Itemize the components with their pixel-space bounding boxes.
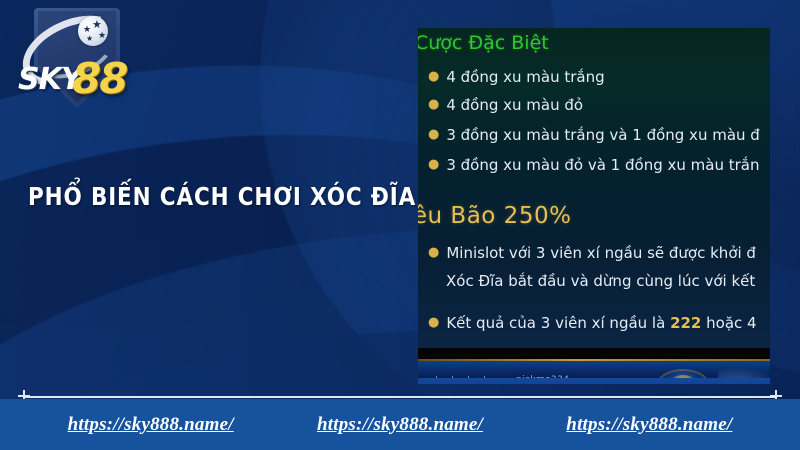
bullet-icon: ● xyxy=(428,69,439,84)
list-item: ●Kết quả của 3 viên xí ngầu là 222 hoặc … xyxy=(428,314,757,332)
bullet-icon: ● xyxy=(428,245,439,260)
strip-body: nickmo234 0 xyxy=(418,361,770,378)
list-item-continuation: Xóc Đĩa bắt đầu và dừng cùng lúc với kết xyxy=(446,272,755,290)
list-item: ●Minislot với 3 viên xí ngầu sẽ được khở… xyxy=(428,244,756,262)
ball-star-icon: ★ xyxy=(86,34,93,44)
list-item-label: 3 đồng xu màu trắng và 1 đồng xu màu đ xyxy=(446,126,759,144)
bullet-icon: ● xyxy=(428,127,439,142)
page-title: PHỔ BIẾN CÁCH CHƠI XÓC ĐĨA xyxy=(28,182,372,211)
bullet-icon: ● xyxy=(428,97,439,112)
section-heading-special-bet: Cược Đặc Biệt xyxy=(418,32,549,54)
footer-url-2[interactable]: https://sky888.name/ xyxy=(317,414,483,436)
result-tail: hoặc 4 xyxy=(701,314,756,332)
list-item: ●4 đồng xu màu đỏ xyxy=(428,96,583,114)
result-highlight: 222 xyxy=(670,314,701,332)
footer-url-3[interactable]: https://sky888.name/ xyxy=(566,414,732,436)
game-rules-panel: Cược Đặc Biệt ●4 đồng xu màu trắng ●4 đồ… xyxy=(418,28,770,384)
ball-star-icon: ★ xyxy=(98,30,106,40)
list-item-label: 3 đồng xu màu đỏ và 1 đồng xu màu trắn xyxy=(446,156,759,174)
section-heading-storm: iêu Bão 250% xyxy=(418,203,571,229)
logo-text-88: 88 xyxy=(72,54,126,103)
ball-star-icon: ★ xyxy=(92,20,102,30)
footer-url-1[interactable]: https://sky888.name/ xyxy=(68,414,234,436)
poster-canvas: ★ ★ ★ ★ SKY 88 PHỔ BIẾN CÁCH CHƠI XÓC ĐĨ… xyxy=(0,0,800,450)
footer-bar: https://sky888.name/ https://sky888.name… xyxy=(0,399,800,450)
list-item-label: 4 đồng xu màu đỏ xyxy=(446,96,583,114)
bullet-icon: ● xyxy=(428,315,439,330)
list-item-label: Minislot với 3 viên xí ngầu sẽ được khởi… xyxy=(446,244,756,262)
ball-star-icon: ★ xyxy=(83,24,91,34)
list-item-label: 4 đồng xu màu trắng xyxy=(446,68,604,86)
list-item-label: Xóc Đĩa bắt đầu và dừng cùng lúc với kết xyxy=(446,272,755,290)
list-item: ●3 đồng xu màu đỏ và 1 đồng xu màu trắn xyxy=(428,156,759,174)
game-client-strip: nickmo234 0 xyxy=(418,348,770,384)
bullet-icon: ● xyxy=(428,157,439,172)
sky88-logo[interactable]: ★ ★ ★ ★ SKY 88 xyxy=(12,6,137,111)
list-item-label: Kết quả của 3 viên xí ngầu là xyxy=(446,314,670,332)
divider-line xyxy=(24,396,776,398)
strip-black-bar xyxy=(418,348,770,359)
strip-bottom-bar xyxy=(418,378,770,384)
list-item: ●3 đồng xu màu trắng và 1 đồng xu màu đ xyxy=(428,126,760,144)
list-item: ●4 đồng xu màu trắng xyxy=(428,68,605,86)
